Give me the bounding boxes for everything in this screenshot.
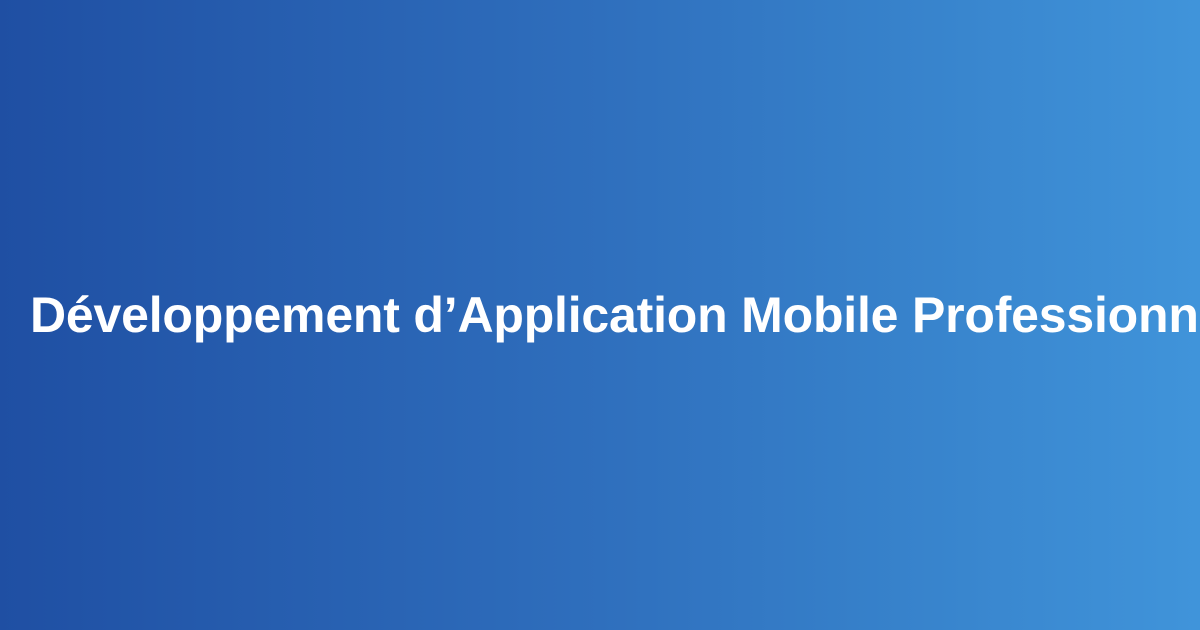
- og-banner-card: Développement d’Application Mobile Profe…: [0, 0, 1200, 630]
- page-title: Développement d’Application Mobile Profe…: [30, 287, 1170, 344]
